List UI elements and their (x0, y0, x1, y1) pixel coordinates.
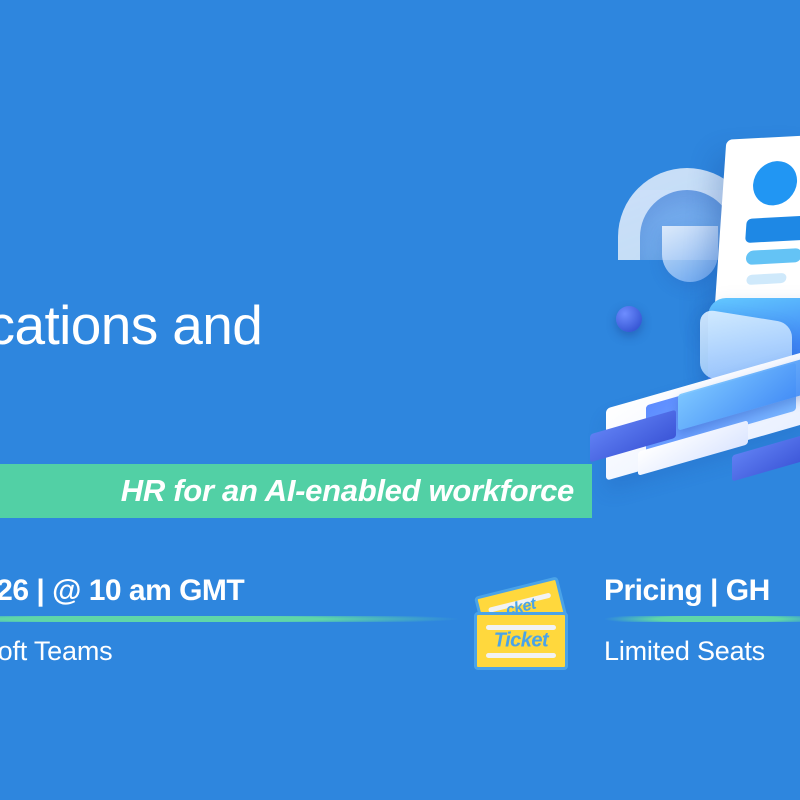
ticket-dash-bottom (486, 653, 556, 658)
hero-illustration (590, 130, 800, 490)
event-details-left: bruary, 2026 | @ 10 am GMT | Via Microso… (0, 574, 460, 667)
divider-green-right (604, 616, 800, 622)
question-mark-stem-icon (662, 226, 718, 282)
event-seats-note: Limited Seats (604, 636, 800, 667)
question-mark-dot-icon (616, 306, 642, 332)
card-text-bar-primary (745, 216, 800, 243)
event-date-time: bruary, 2026 | @ 10 am GMT (0, 574, 460, 608)
promo-poster: sion: d HR: al Applications and unities … (0, 0, 800, 800)
subtitle-text: HR for an AI-enabled workforce (121, 473, 574, 509)
avatar (752, 160, 799, 207)
ticket-front-shape: Ticket (474, 612, 568, 670)
event-details-right: Pricing | GH Limited Seats (604, 574, 800, 667)
card-text-bar-secondary (746, 248, 800, 265)
ticket-icon: cket Ticket (468, 582, 580, 682)
profile-card-graphic (714, 135, 800, 321)
card-text-bar-tertiary (746, 273, 787, 285)
isometric-platform (592, 366, 800, 486)
event-platform: | Via Microsoft Teams (0, 636, 460, 667)
divider-green-left (0, 616, 460, 622)
subtitle-highlight-bar: HR for an AI-enabled workforce (0, 464, 592, 518)
page-title-line-2: al Applications and (0, 296, 262, 354)
ticket-front-label: Ticket (477, 630, 565, 653)
event-pricing: Pricing | GH (604, 574, 800, 608)
